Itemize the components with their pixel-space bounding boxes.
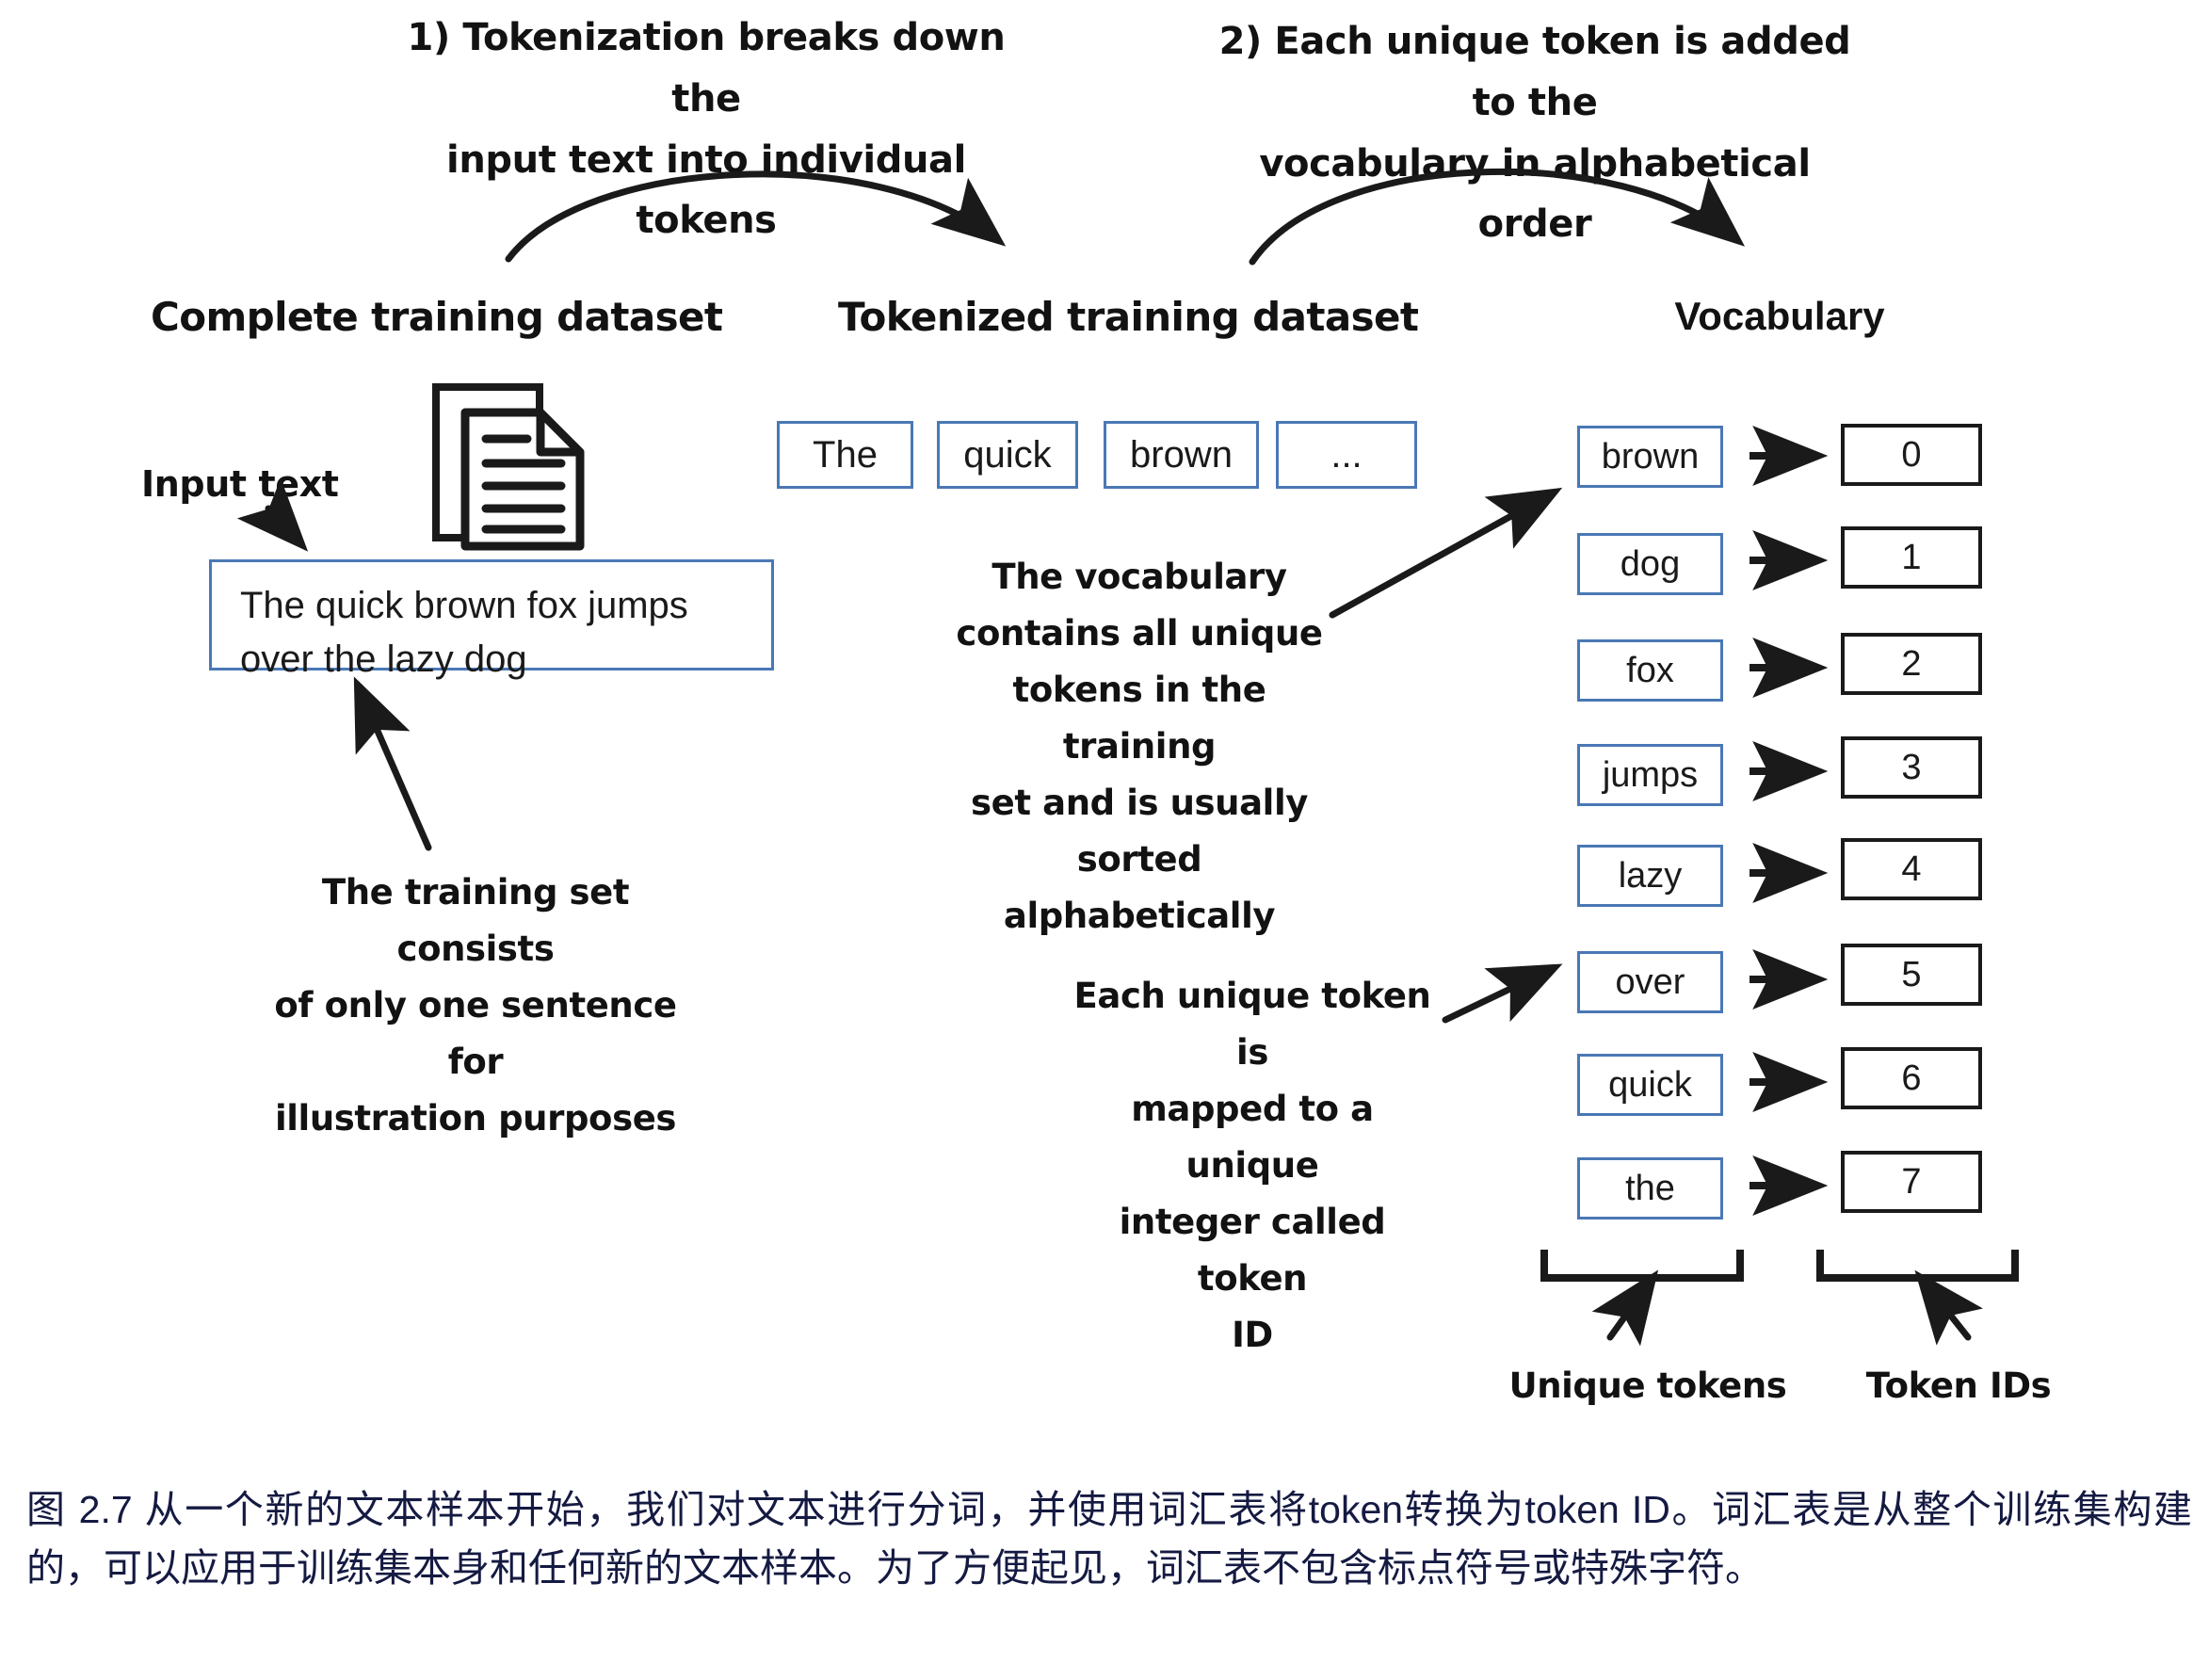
training-set-note-arrow: [358, 686, 428, 848]
token-box-quick: quick: [937, 421, 1078, 489]
brace-token-ids: [1820, 1250, 2015, 1278]
step-1-annotation: 1) Tokenization breaks down the input te…: [405, 8, 1008, 251]
vocab-token-dog: dog: [1577, 533, 1723, 595]
vocabulary-note: The vocabulary contains all unique token…: [942, 549, 1337, 945]
vocab-mapping-arrows: [1749, 456, 1817, 1186]
vocab-id-3: 3: [1841, 736, 1982, 799]
vocab-id-0: 0: [1841, 424, 1982, 486]
vocab-id-6: 6: [1841, 1047, 1982, 1109]
input-text-box: The quick brown fox jumps over the lazy …: [209, 559, 774, 670]
figure-canvas: 1) Tokenization breaks down the input te…: [0, 0, 2209, 1680]
vocab-token-fox: fox: [1577, 639, 1723, 702]
heading-complete-training-dataset: Complete training dataset: [151, 294, 697, 340]
input-text-label: Input text: [141, 456, 377, 514]
documents-icon: [436, 387, 580, 546]
vocab-id-5: 5: [1841, 944, 1982, 1006]
step-2-annotation: 2) Each unique token is added to the voc…: [1215, 11, 1855, 255]
brace-label-unique-tokens: Unique tokens: [1478, 1358, 1817, 1414]
brace-label-token-ids: Token IDs: [1817, 1358, 2100, 1414]
token-id-note: Each unique token is mapped to a unique …: [1064, 968, 1441, 1364]
vocab-token-lazy: lazy: [1577, 845, 1723, 907]
vocab-id-4: 4: [1841, 838, 1982, 900]
vocab-id-2: 2: [1841, 633, 1982, 695]
vocab-token-over: over: [1577, 951, 1723, 1013]
vocab-id-1: 1: [1841, 526, 1982, 589]
training-set-note: The training set consists of only one se…: [264, 864, 687, 1147]
heading-vocabulary: Vocabulary: [1582, 294, 1977, 339]
figure-caption: 图 2.7 从一个新的文本样本开始，我们对文本进行分词，并使用词汇表将token…: [26, 1480, 2192, 1598]
input-text-pointer-arrow: [268, 509, 301, 544]
token-box-ellipsis: ...: [1276, 421, 1417, 489]
token-ids-label-arrow: [1921, 1278, 1968, 1337]
token-box-the: The: [777, 421, 913, 489]
brace-unique-tokens: [1544, 1250, 1740, 1278]
heading-tokenized-training-dataset: Tokenized training dataset: [838, 294, 1384, 340]
vocab-token-jumps: jumps: [1577, 744, 1723, 806]
vocab-token-brown: brown: [1577, 426, 1723, 488]
vocab-id-7: 7: [1841, 1151, 1982, 1213]
unique-tokens-label-arrow: [1610, 1278, 1653, 1337]
vocab-token-the: the: [1577, 1157, 1723, 1220]
vocab-token-quick: quick: [1577, 1054, 1723, 1116]
token-box-brown: brown: [1104, 421, 1259, 489]
token-id-note-arrow: [1445, 968, 1554, 1020]
vocabulary-note-arrow: [1332, 493, 1554, 615]
